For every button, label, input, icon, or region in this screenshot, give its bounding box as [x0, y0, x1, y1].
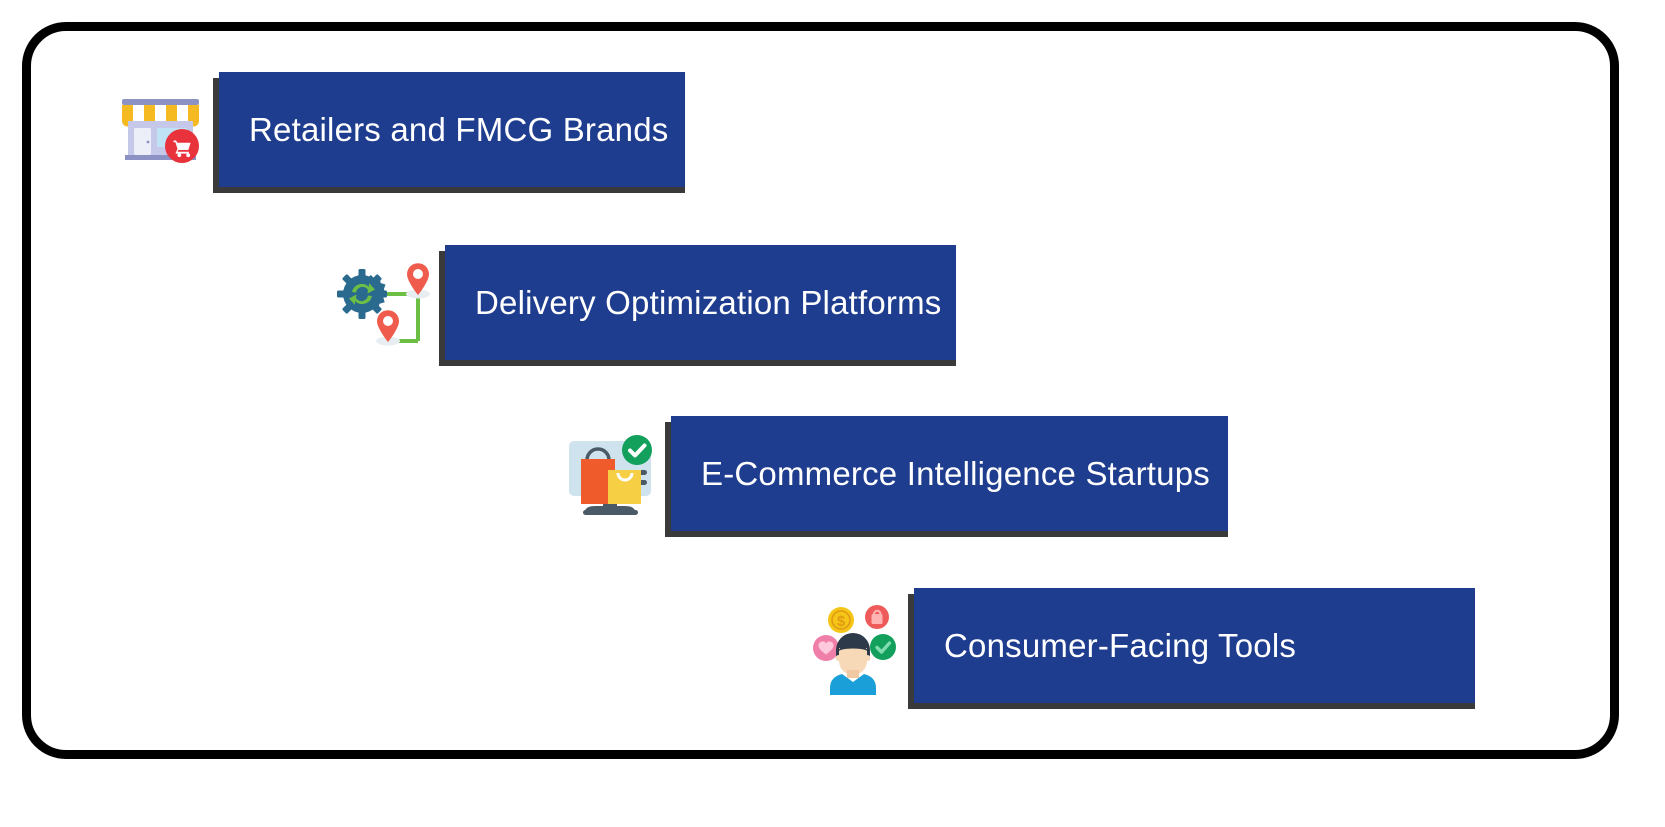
storefront-cart-icon [113, 80, 208, 175]
bar-e-commerce-intelligence-startups[interactable]: E-Commerce Intelligence Startups [671, 416, 1228, 531]
consumer-person-badges-icon: $ [803, 590, 903, 695]
bar-delivery-optimization-platforms[interactable]: Delivery Optimization Platforms [445, 245, 956, 360]
bar-retailers-fmcg-brands[interactable]: Retailers and FMCG Brands [219, 72, 685, 187]
gear-route-pins-icon [330, 253, 430, 353]
bar-label-retailers-fmcg-brands: Retailers and FMCG Brands [219, 111, 668, 149]
bar-label-e-commerce-intelligence-startups: E-Commerce Intelligence Startups [671, 455, 1210, 493]
monitor-shopping-bags-check-icon [563, 424, 663, 524]
svg-text:$: $ [837, 613, 846, 630]
bar-label-delivery-optimization-platforms: Delivery Optimization Platforms [445, 284, 942, 322]
bar-consumer-facing-tools[interactable]: Consumer-Facing Tools [914, 588, 1475, 703]
infographic-canvas: Retailers and FMCG Brands [0, 0, 1665, 827]
bar-label-consumer-facing-tools: Consumer-Facing Tools [914, 627, 1296, 665]
